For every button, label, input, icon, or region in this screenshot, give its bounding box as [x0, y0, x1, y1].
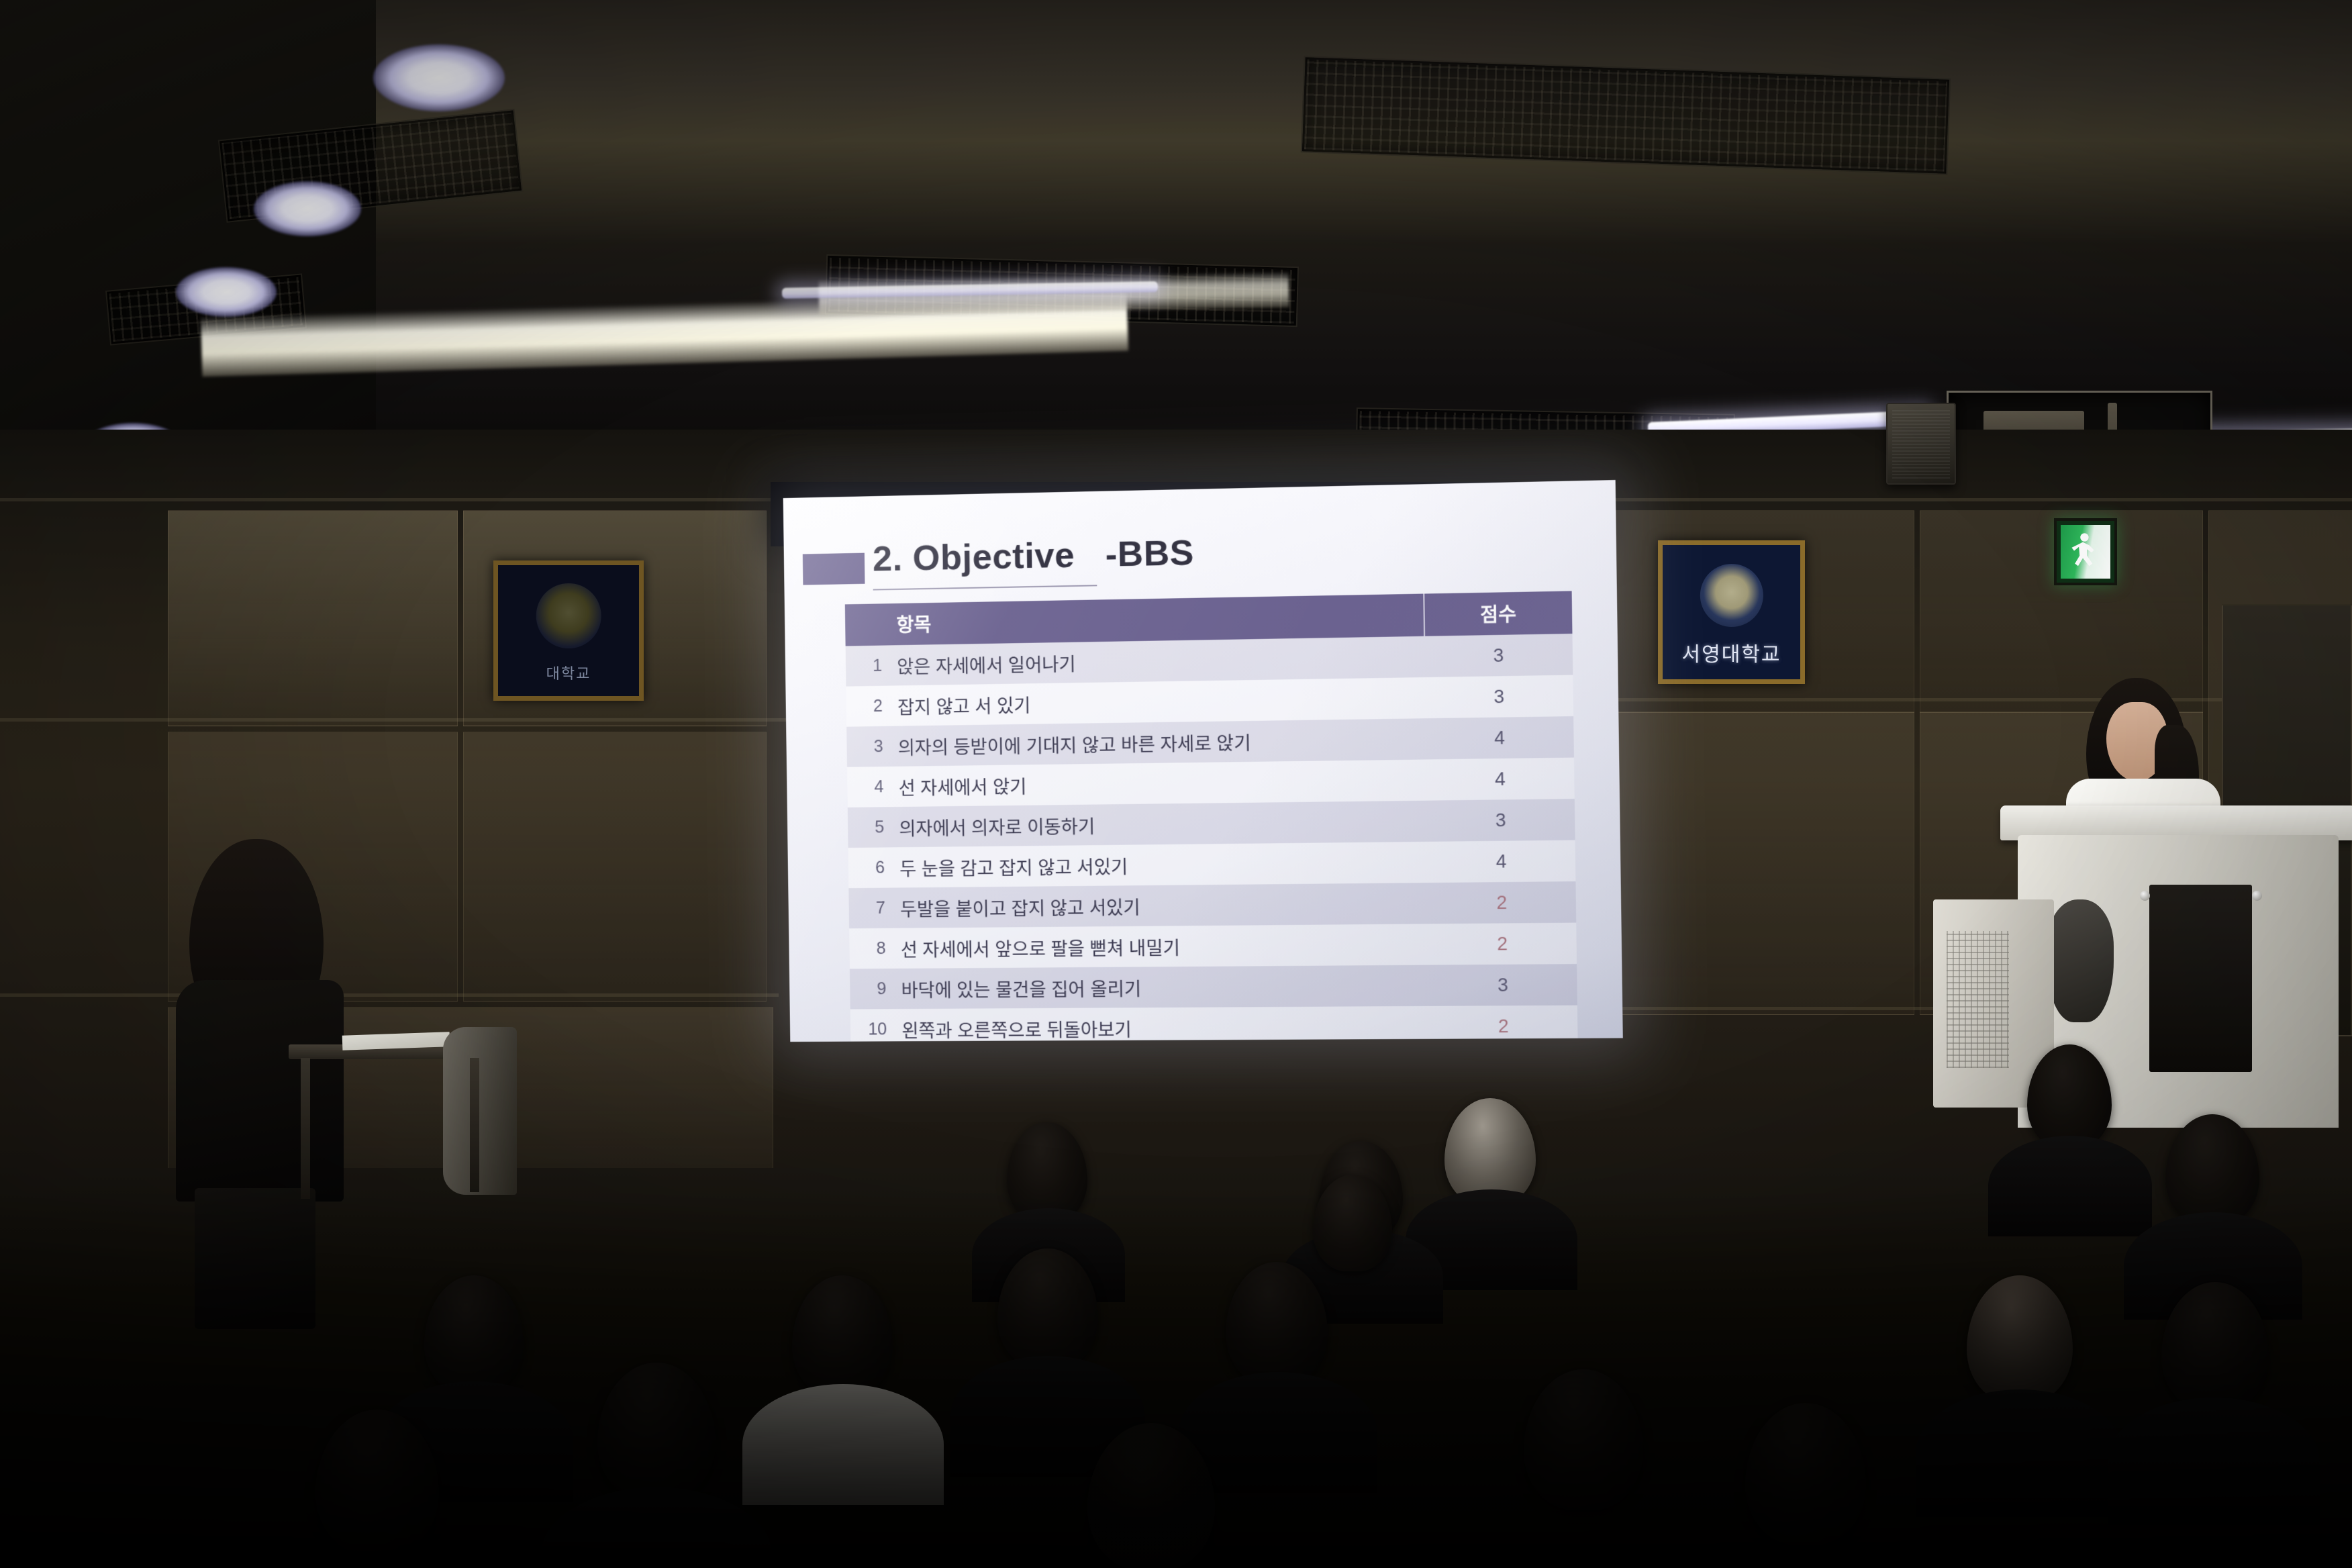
row-item-label: 잡지 않고 서 있기 [893, 677, 1426, 726]
emblem-crest-icon [536, 583, 601, 648]
slide-accent-chip [803, 553, 865, 585]
row-item-label: 바닥에 있는 물건을 집어 올리기 [897, 965, 1429, 1010]
wall-panel [463, 732, 767, 1001]
row-item-label: 선 자세에서 앉기 [894, 759, 1426, 807]
audience-shoulders [742, 1384, 944, 1505]
row-score: 3 [1426, 799, 1575, 842]
second-presenter-skirt [195, 1188, 315, 1329]
audience-shoulders [1988, 1136, 2152, 1236]
row-number: 2 [846, 685, 893, 726]
exit-sign [2054, 518, 2117, 585]
wall-speaker [1886, 403, 1956, 485]
bbs-score-table: 항목 점수 1앉은 자세에서 일어나기32잡지 않고 서 있기33의자의 등받이… [845, 591, 1580, 1042]
row-number: 1 [846, 645, 893, 686]
row-score: 4 [1426, 758, 1575, 801]
audience-shoulders [2108, 1398, 2320, 1525]
table-row: 9바닥에 있는 물건을 집어 올리기3 [850, 964, 1577, 1009]
second-presenter [176, 839, 371, 1322]
ceiling-downlight [254, 181, 361, 236]
col-header-number [845, 603, 893, 646]
audience-shoulders [1916, 1389, 2124, 1517]
second-presenter-jacket [176, 980, 344, 1202]
wall-panel [1604, 712, 1914, 1015]
row-item-label: 두 눈을 감고 잡지 않고 서있기 [895, 842, 1428, 888]
table-row: 8선 자세에서 앞으로 팔을 뻗쳐 내밀기2 [849, 923, 1577, 969]
row-item-label: 의자의 등받이에 기대지 않고 바른 자세로 앉기 [893, 718, 1426, 767]
emblem-label: 서영대학교 [1682, 638, 1781, 667]
slide-title: 2. Objective -BBS [873, 533, 1194, 580]
slide-title-underline [873, 585, 1097, 590]
row-score: 4 [1426, 716, 1574, 759]
podium-side-recess [2047, 899, 2114, 1022]
row-item-label: 선 자세에서 앞으로 팔을 뻗쳐 내밀기 [896, 924, 1428, 969]
podium-latch[interactable] [2140, 891, 2150, 901]
row-score: 2 [1428, 923, 1577, 965]
presentation-slide: 2. Objective -BBS 항목 점수 1앉은 자세에서 일어나기32잡… [783, 480, 1623, 1042]
table-row: 7두발을 붙이고 잡지 않고 서있기2 [848, 881, 1576, 928]
row-number: 4 [847, 767, 895, 807]
auditorium-photo: 대학교 서영대학교 2. Objective -BBS [0, 0, 2352, 1568]
row-score: 4 [1427, 840, 1575, 883]
row-number: 10 [850, 1009, 898, 1042]
ceiling-downlight [373, 44, 505, 111]
table-body: 1앉은 자세에서 일어나기32잡지 않고 서 있기33의자의 등받이에 기대지 … [846, 634, 1580, 1042]
lectern-leg [470, 1058, 479, 1192]
row-number: 5 [848, 807, 895, 848]
ceiling-downlight [176, 267, 277, 317]
row-score: 2 [1428, 881, 1576, 924]
row-number: 6 [848, 847, 896, 888]
emblem-crest-icon [1700, 564, 1763, 627]
row-score: 3 [1429, 964, 1577, 1006]
row-score: 3 [1425, 675, 1573, 719]
row-item-label: 왼쪽과 오른쪽으로 뒤돌아보기 [897, 1006, 1430, 1042]
col-header-score: 점수 [1424, 591, 1572, 636]
row-item-label: 두발을 붙이고 잡지 않고 서있기 [896, 883, 1428, 928]
slide-header: 2. Objective -BBS [844, 521, 1571, 597]
wall-panel [168, 510, 458, 726]
row-number: 3 [846, 726, 894, 767]
framed-emblem-left: 대학교 [493, 560, 644, 701]
row-number: 9 [850, 969, 897, 1010]
row-item-label: 의자에서 의자로 이동하기 [895, 801, 1427, 848]
podium-latch[interactable] [2252, 891, 2262, 901]
row-number: 8 [849, 928, 897, 969]
table-row: 6두 눈을 감고 잡지 않고 서있기4 [848, 840, 1576, 889]
row-score: 3 [1424, 634, 1573, 677]
running-man-exit-icon [2067, 531, 2103, 573]
emblem-label: 대학교 [546, 662, 591, 683]
row-score: 2 [1429, 1006, 1577, 1042]
lectern-curved-panel [443, 1027, 517, 1195]
exit-sign-face [2061, 525, 2110, 578]
table-row: 10왼쪽과 오른쪽으로 뒤돌아보기2 [850, 1006, 1578, 1042]
lectern-leg [301, 1058, 310, 1199]
row-number: 7 [848, 888, 896, 929]
framed-emblem-right: 서영대학교 [1658, 540, 1805, 684]
podium-dark-panel [2149, 885, 2252, 1072]
table-row: 5의자에서 의자로 이동하기3 [848, 799, 1575, 848]
projection-screen: 2. Objective -BBS 항목 점수 1앉은 자세에서 일어나기32잡… [783, 480, 1623, 1042]
